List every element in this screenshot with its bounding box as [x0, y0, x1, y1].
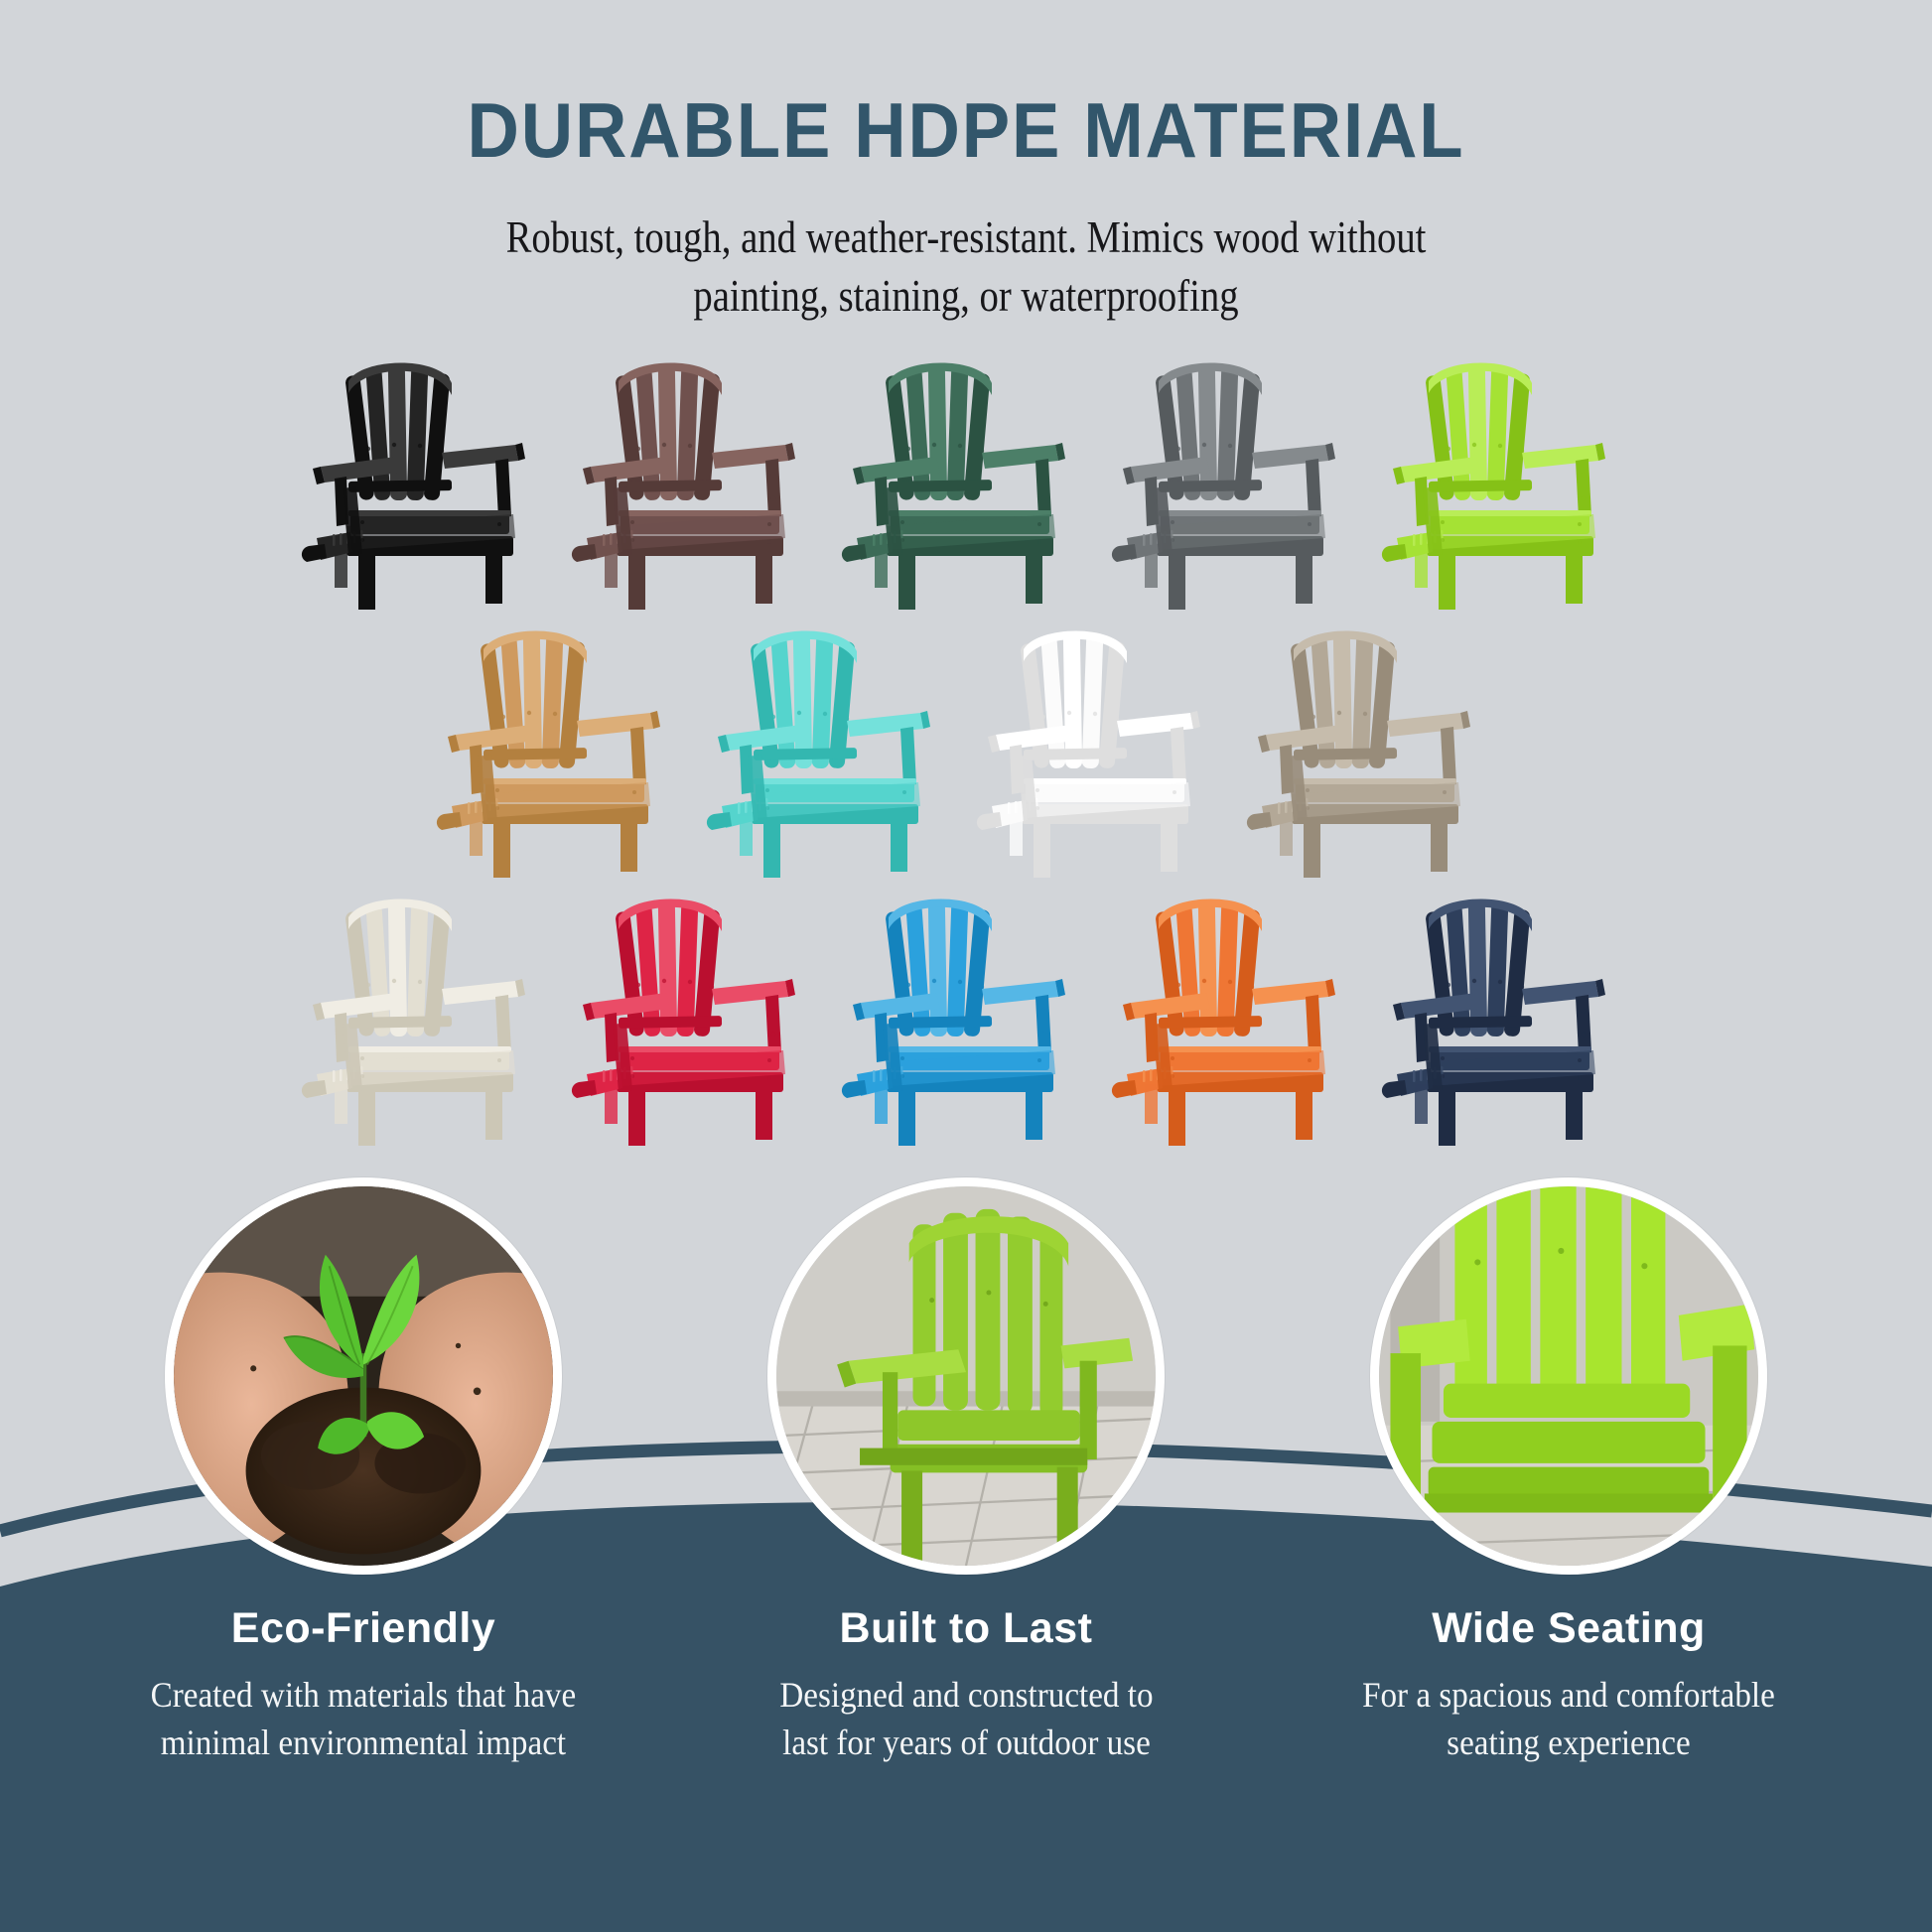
feature-wide-seating: Wide Seating For a spacious and comforta…: [1291, 1177, 1847, 1932]
chair-swatch-weathered-taupe[interactable]: [1236, 618, 1506, 884]
chair-swatch-teak-tan[interactable]: [426, 618, 696, 884]
infographic-canvas: DURABLE HDPE MATERIAL Robust, tough, and…: [0, 0, 1932, 1932]
feature-description: Designed and constructed to last for yea…: [779, 1671, 1153, 1766]
feature-desc-line-2: last for years of outdoor use: [779, 1719, 1153, 1766]
chair-swatch-ivory[interactable]: [291, 886, 561, 1152]
feature-desc-line-1: Designed and constructed to: [779, 1671, 1153, 1719]
chair-figure: [1101, 349, 1371, 616]
lime-chair-wide-seat-icon: [1370, 1177, 1767, 1575]
chair-figure: [1101, 886, 1371, 1152]
chair-swatch-sky-blue[interactable]: [831, 886, 1101, 1152]
chair-swatch-red[interactable]: [561, 886, 831, 1152]
page-subtitle: Robust, tough, and weather-resistant. Mi…: [135, 208, 1797, 327]
feature-description: For a spacious and comfortable seating e…: [1362, 1671, 1775, 1766]
chair-swatch-gray[interactable]: [1101, 349, 1371, 616]
feature-desc-line-2: minimal environmental impact: [151, 1719, 577, 1766]
chair-figure: [696, 618, 966, 884]
chair-figure: [561, 886, 831, 1152]
feature-desc-line-1: Created with materials that have: [151, 1671, 577, 1719]
chair-swatch-dark-green[interactable]: [831, 349, 1101, 616]
feature-description: Created with materials that have minimal…: [151, 1671, 577, 1766]
subtitle-line-1: Robust, tough, and weather-resistant. Mi…: [135, 208, 1797, 267]
chair-figure: [1371, 349, 1641, 616]
chair-row-1: [0, 349, 1932, 618]
chair-figure: [831, 349, 1101, 616]
subtitle-line-2: painting, staining, or waterproofing: [135, 267, 1797, 326]
feature-desc-line-2: seating experience: [1362, 1719, 1775, 1766]
chair-row-2: [0, 618, 1932, 886]
chair-swatch-navy[interactable]: [1371, 886, 1641, 1152]
feature-title: Built to Last: [840, 1604, 1093, 1653]
chair-figure: [831, 886, 1101, 1152]
chair-color-grid: [0, 349, 1932, 1154]
seedling-in-hands-icon: [165, 1177, 562, 1575]
chair-figure: [1371, 886, 1641, 1152]
feature-list: Eco-Friendly Created with materials that…: [0, 1177, 1932, 1932]
feature-title: Wide Seating: [1432, 1604, 1706, 1653]
chair-figure: [291, 349, 561, 616]
chair-figure: [426, 618, 696, 884]
chair-swatch-orange[interactable]: [1101, 886, 1371, 1152]
feature-eco-friendly: Eco-Friendly Created with materials that…: [85, 1177, 641, 1932]
feature-desc-line-1: For a spacious and comfortable: [1362, 1671, 1775, 1719]
chair-swatch-black[interactable]: [291, 349, 561, 616]
chair-swatch-lime[interactable]: [1371, 349, 1641, 616]
chair-figure: [291, 886, 561, 1152]
chair-figure: [1236, 618, 1506, 884]
feature-built-to-last: Built to Last Designed and constructed t…: [688, 1177, 1244, 1932]
chair-figure: [561, 349, 831, 616]
chair-swatch-turquoise[interactable]: [696, 618, 966, 884]
page-title: DURABLE HDPE MATERIAL: [68, 91, 1864, 169]
chair-figure: [966, 618, 1236, 884]
chair-swatch-white[interactable]: [966, 618, 1236, 884]
feature-title: Eco-Friendly: [231, 1604, 495, 1653]
chair-row-3: [0, 886, 1932, 1154]
chair-swatch-brown[interactable]: [561, 349, 831, 616]
header: DURABLE HDPE MATERIAL Robust, tough, and…: [0, 0, 1932, 327]
lime-chair-patio-icon: [767, 1177, 1165, 1575]
